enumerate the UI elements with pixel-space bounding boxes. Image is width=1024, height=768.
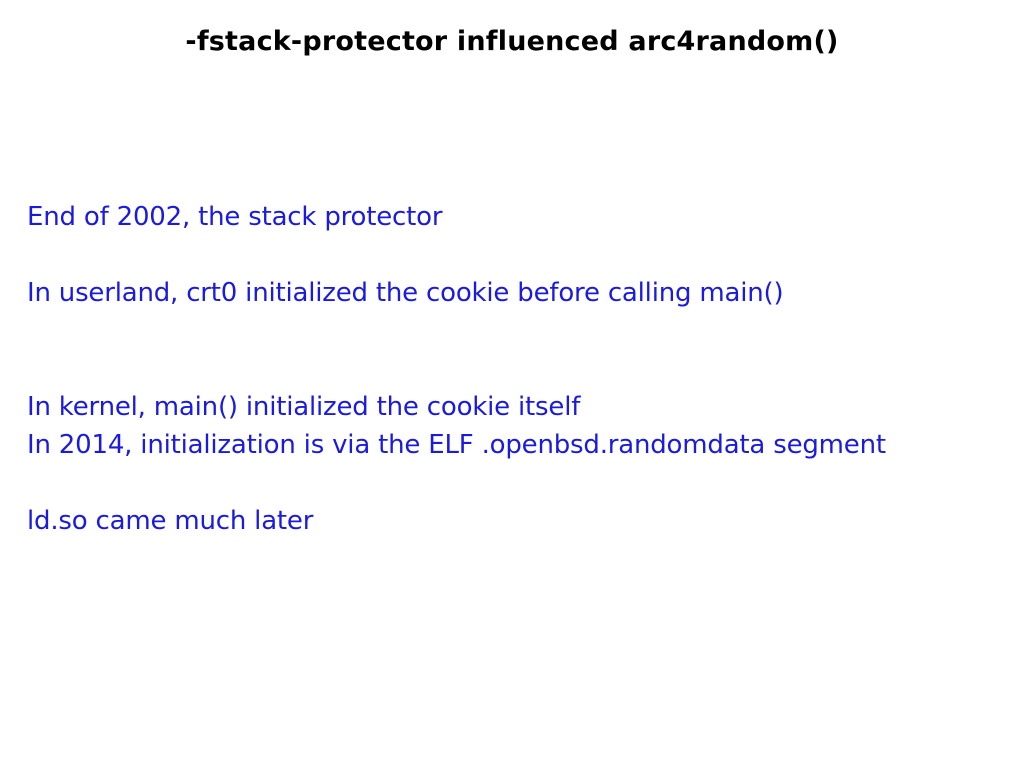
body-line: In 2014, initialization is via the ELF .… xyxy=(27,426,987,464)
body-line: In userland, crt0 initialized the cookie… xyxy=(27,274,987,312)
slide-title: -fstack-protector influenced arc4random(… xyxy=(0,26,1024,57)
slide-canvas: -fstack-protector influenced arc4random(… xyxy=(0,0,1024,768)
body-block-modern-initialization: In 2014, initialization is via the ELF .… xyxy=(27,350,987,540)
